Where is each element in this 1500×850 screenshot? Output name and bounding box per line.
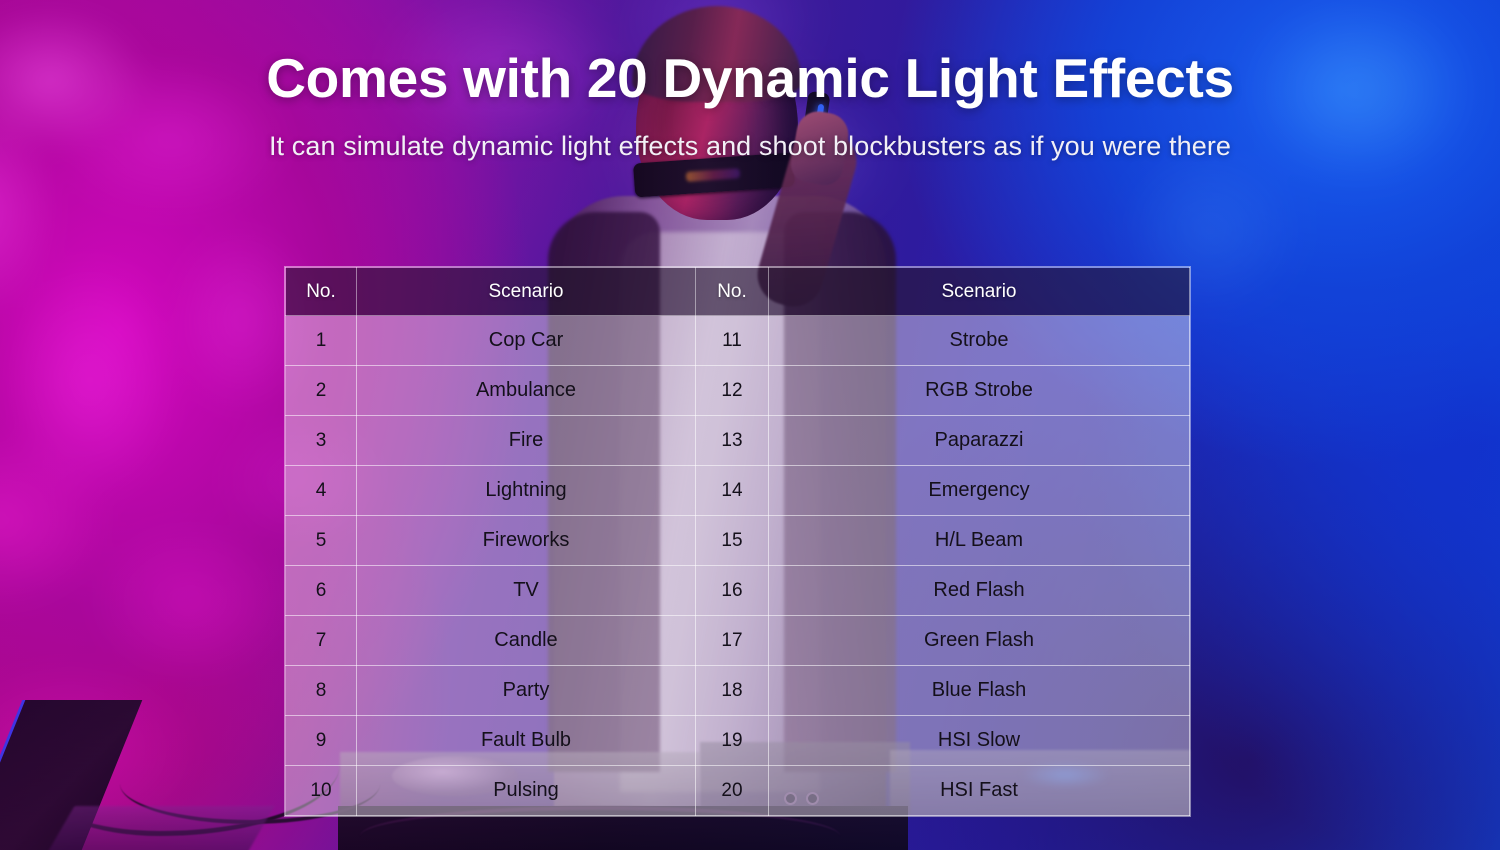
cell-scenario-right: HSI Slow <box>769 716 1190 766</box>
table-row: 8 Party 18 Blue Flash <box>286 666 1190 716</box>
cell-scenario-left: Cop Car <box>357 316 696 366</box>
cell-no-left: 8 <box>286 666 357 716</box>
page-subtitle: It can simulate dynamic light effects an… <box>0 131 1500 162</box>
table-row: 4 Lightning 14 Emergency <box>286 466 1190 516</box>
cell-no-right: 15 <box>696 516 769 566</box>
column-header-no-right: No. <box>696 268 769 316</box>
cell-no-left: 6 <box>286 566 357 616</box>
cell-no-right: 12 <box>696 366 769 416</box>
table-body: 1 Cop Car 11 Strobe 2 Ambulance 12 RGB S… <box>286 316 1190 816</box>
cell-scenario-left: Pulsing <box>357 766 696 816</box>
cell-scenario-left: Fireworks <box>357 516 696 566</box>
table-row: 5 Fireworks 15 H/L Beam <box>286 516 1190 566</box>
cell-no-right: 16 <box>696 566 769 616</box>
cell-no-right: 14 <box>696 466 769 516</box>
cell-no-left: 10 <box>286 766 357 816</box>
light-effects-table: No. Scenario No. Scenario 1 Cop Car 11 S… <box>285 267 1190 816</box>
cell-scenario-left: Fire <box>357 416 696 466</box>
cell-no-left: 4 <box>286 466 357 516</box>
cell-no-right: 17 <box>696 616 769 666</box>
column-header-scenario-left: Scenario <box>357 268 696 316</box>
cell-scenario-left: Candle <box>357 616 696 666</box>
cell-scenario-right: Strobe <box>769 316 1190 366</box>
cell-scenario-left: Lightning <box>357 466 696 516</box>
cell-no-right: 19 <box>696 716 769 766</box>
cell-scenario-right: H/L Beam <box>769 516 1190 566</box>
cell-no-right: 20 <box>696 766 769 816</box>
cell-scenario-right: Red Flash <box>769 566 1190 616</box>
cell-scenario-right: Emergency <box>769 466 1190 516</box>
table-header-row: No. Scenario No. Scenario <box>286 268 1190 316</box>
cell-no-right: 18 <box>696 666 769 716</box>
table-row: 7 Candle 17 Green Flash <box>286 616 1190 666</box>
page-title: Comes with 20 Dynamic Light Effects <box>0 46 1500 110</box>
cell-scenario-left: TV <box>357 566 696 616</box>
cell-scenario-right: Paparazzi <box>769 416 1190 466</box>
cell-scenario-right: HSI Fast <box>769 766 1190 816</box>
column-header-scenario-right: Scenario <box>769 268 1190 316</box>
cell-scenario-left: Ambulance <box>357 366 696 416</box>
table-row: 10 Pulsing 20 HSI Fast <box>286 766 1190 816</box>
cell-no-right: 13 <box>696 416 769 466</box>
table-row: 3 Fire 13 Paparazzi <box>286 416 1190 466</box>
cell-no-left: 5 <box>286 516 357 566</box>
cell-scenario-left: Party <box>357 666 696 716</box>
table-row: 2 Ambulance 12 RGB Strobe <box>286 366 1190 416</box>
table-header: No. Scenario No. Scenario <box>286 268 1190 316</box>
cell-scenario-right: Blue Flash <box>769 666 1190 716</box>
cell-scenario-left: Fault Bulb <box>357 716 696 766</box>
cell-scenario-right: Green Flash <box>769 616 1190 666</box>
cell-scenario-right: RGB Strobe <box>769 366 1190 416</box>
table-row: 1 Cop Car 11 Strobe <box>286 316 1190 366</box>
cell-no-left: 2 <box>286 366 357 416</box>
table-row: 6 TV 16 Red Flash <box>286 566 1190 616</box>
cell-no-left: 9 <box>286 716 357 766</box>
cell-no-right: 11 <box>696 316 769 366</box>
cell-no-left: 3 <box>286 416 357 466</box>
column-header-no-left: No. <box>286 268 357 316</box>
table-row: 9 Fault Bulb 19 HSI Slow <box>286 716 1190 766</box>
content-layer: Comes with 20 Dynamic Light Effects It c… <box>0 0 1500 850</box>
cell-no-left: 7 <box>286 616 357 666</box>
cell-no-left: 1 <box>286 316 357 366</box>
